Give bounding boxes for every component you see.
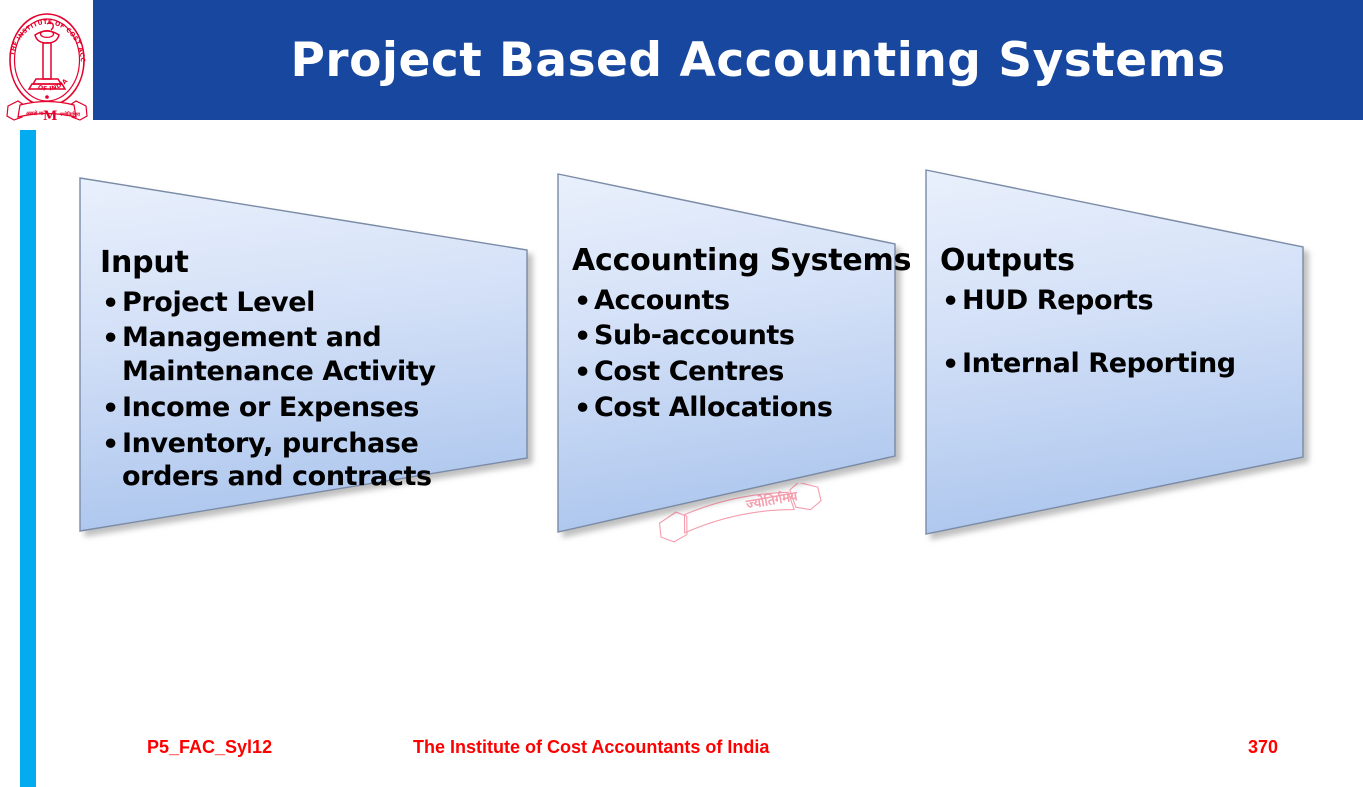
bullet-icon: • — [102, 392, 119, 426]
list-item: •Management and Maintenance Activity — [100, 321, 520, 389]
bullet-icon: • — [102, 287, 119, 321]
accounting-systems-chevron: Accounting Systems •Accounts •Sub-accoun… — [550, 166, 915, 544]
svg-text:ज्योतिर्गमय: ज्योतिर्गमय — [59, 111, 81, 118]
accounting-systems-chevron-content: Accounting Systems •Accounts •Sub-accoun… — [572, 244, 892, 427]
bullet-icon: • — [574, 392, 591, 426]
list-item: •Income or Expenses — [100, 391, 520, 425]
bullet-icon: • — [102, 322, 119, 356]
svg-text:M: M — [43, 109, 57, 124]
list-item: •Inventory, purchase orders and contract… — [100, 427, 520, 495]
input-header: Input — [100, 246, 520, 280]
svg-text:THE INSTITUTE OF COST ACCOUNTA: THE INSTITUTE OF COST ACCOUNTANTS — [2, 2, 86, 63]
bullet-icon: • — [574, 356, 591, 390]
list-item: •Internal Reporting — [940, 347, 1300, 381]
accounting-systems-bullet-list: •Accounts •Sub-accounts •Cost Centres •C… — [572, 284, 892, 425]
accounting-systems-header: Accounting Systems — [572, 244, 892, 278]
outputs-bullet-list: •HUD Reports •Internal Reporting — [940, 284, 1300, 382]
slide-footer: P5_FAC_Syl12 The Institute of Cost Accou… — [0, 733, 1363, 769]
icai-logo: THE INSTITUTE OF COST ACCOUNTANTS OF IND… — [2, 2, 92, 124]
bullet-icon: • — [574, 285, 591, 319]
footer-paper-code: P5_FAC_Syl12 — [147, 737, 272, 758]
svg-text:असतो मा: असतो मा — [26, 110, 44, 117]
bullet-icon: • — [102, 428, 119, 462]
outputs-header: Outputs — [940, 244, 1300, 278]
slide-title-bar: Project Based Accounting Systems — [93, 0, 1363, 120]
footer-page-number: 370 — [1248, 737, 1278, 758]
bullet-icon: • — [942, 285, 959, 319]
slide-canvas: THE INSTITUTE OF COST ACCOUNTANTS OF IND… — [0, 0, 1363, 787]
list-item: •Sub-accounts — [572, 319, 892, 353]
bullet-icon: • — [574, 320, 591, 354]
input-bullet-list: •Project Level •Management and Maintenan… — [100, 286, 520, 495]
list-item: •Cost Allocations — [572, 391, 892, 425]
input-chevron: Input •Project Level •Management and Mai… — [72, 168, 542, 543]
page-title: Project Based Accounting Systems — [230, 37, 1225, 84]
list-item: •Project Level — [100, 286, 520, 320]
svg-text:OF INDIA: OF INDIA — [37, 78, 69, 93]
footer-organisation: The Institute of Cost Accountants of Ind… — [413, 737, 769, 758]
bullet-icon: • — [942, 348, 959, 382]
outputs-chevron: Outputs •HUD Reports •Internal Reporting — [918, 162, 1318, 547]
list-item: •Accounts — [572, 284, 892, 318]
outputs-chevron-content: Outputs •HUD Reports •Internal Reporting — [940, 244, 1300, 383]
input-chevron-content: Input •Project Level •Management and Mai… — [100, 246, 520, 496]
left-accent-bar — [20, 130, 36, 787]
list-item: •Cost Centres — [572, 355, 892, 389]
list-item: •HUD Reports — [940, 284, 1300, 318]
